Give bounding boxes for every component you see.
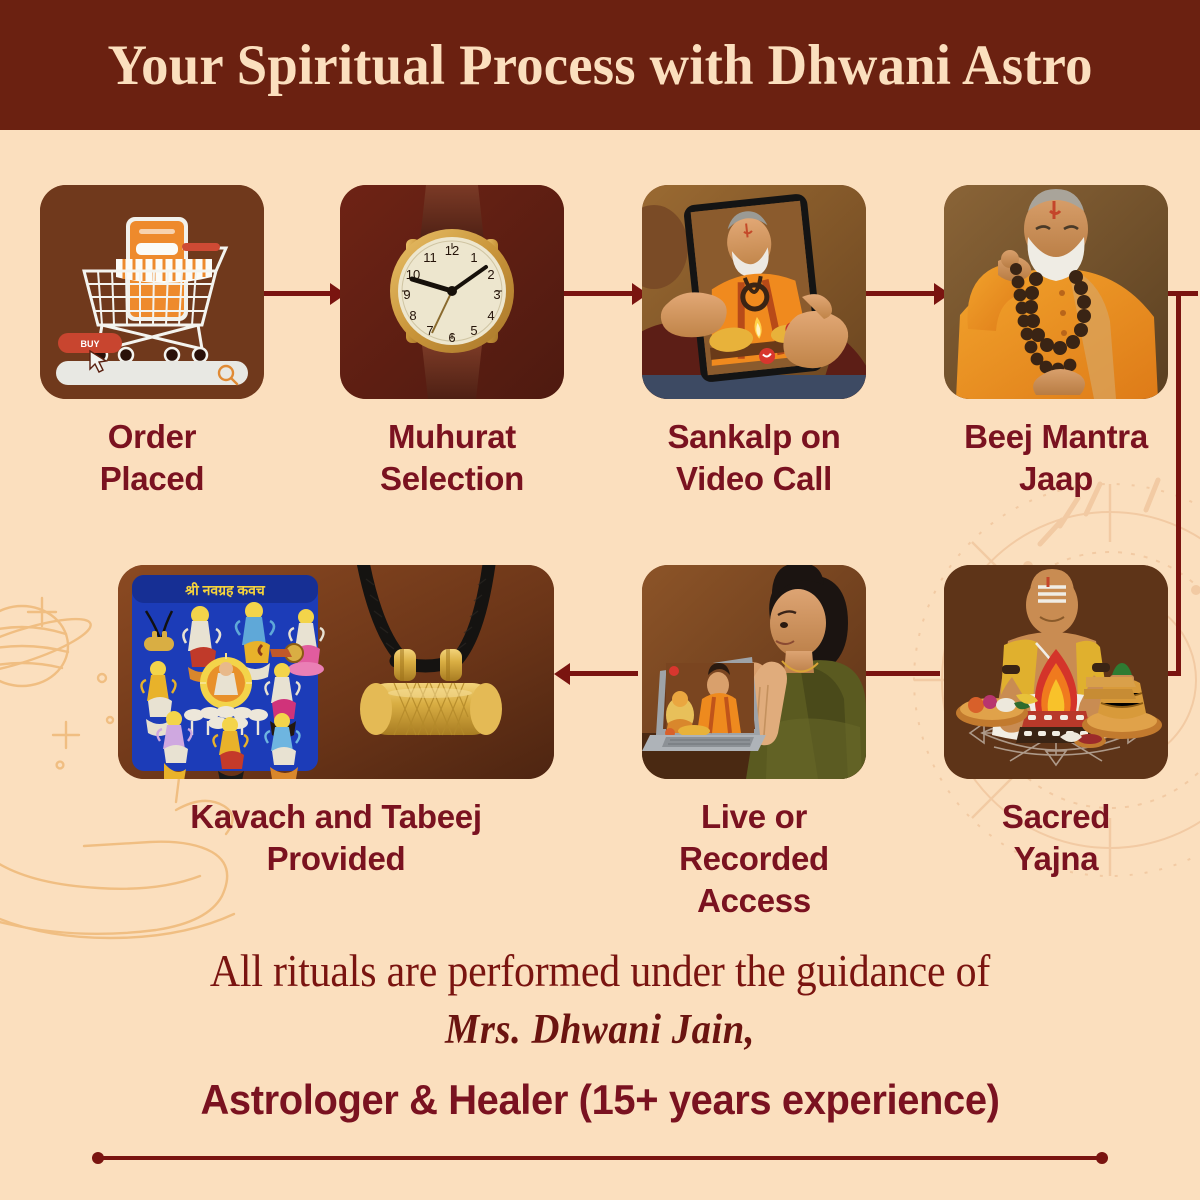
step-muhurat-selection[interactable]: 12 1 2 3 4 5 6 7 8 9 10 11: [340, 185, 564, 500]
divider-line: [97, 1156, 1103, 1160]
connector-beej-wrap-vertical: [1176, 291, 1181, 676]
page-header: Your Spiritual Process with Dhwani Astro: [0, 0, 1200, 130]
yajna-havan-illustration: [944, 565, 1168, 779]
wristwatch-photo: 12 1 2 3 4 5 6 7 8 9 10 11: [340, 185, 564, 399]
svg-text:11: 11: [423, 250, 437, 265]
step-beej-mantra-jaap[interactable]: Beej Mantra Jaap: [944, 185, 1168, 500]
connector-live-to-kavach: [566, 671, 638, 676]
svg-text:श्री नवग्रह कवच: श्री नवग्रह कवच: [184, 582, 266, 598]
page-title: Your Spiritual Process with Dhwani Astro: [107, 33, 1092, 98]
connector-sankalp-to-beej: [866, 291, 938, 296]
footer-line-astrologer-name: Mrs. Dhwani Jain,: [48, 1006, 1152, 1054]
step-order-placed[interactable]: BUY Order Placed: [40, 185, 264, 500]
step-label-live-or-recorded-access: Live or Recorded Access: [642, 796, 866, 923]
kavach-tabeej-photo: श्री नवग्रह कवच: [118, 565, 554, 779]
step-label-kavach-and-tabeej: Kavach and Tabeej Provided: [190, 796, 481, 880]
svg-text:4: 4: [487, 308, 494, 323]
svg-text:2: 2: [487, 267, 494, 282]
step-sacred-yajna[interactable]: Sacred Yajna: [944, 565, 1168, 880]
svg-text:BUY: BUY: [80, 339, 99, 349]
step-label-sacred-yajna: Sacred Yajna: [1002, 796, 1110, 880]
step-live-or-recorded-access[interactable]: Live or Recorded Access: [642, 565, 866, 923]
footer-line-guidance: All rituals are performed under the guid…: [42, 945, 1158, 997]
footer-divider: [0, 1148, 1200, 1168]
svg-text:1: 1: [470, 250, 477, 265]
svg-text:5: 5: [470, 323, 477, 338]
step-kavach-and-tabeej[interactable]: श्री नवग्रह कवच: [118, 565, 554, 880]
svg-text:3: 3: [493, 287, 500, 302]
connector-beej-wrap-top: [1165, 291, 1198, 296]
connector-muhurat-to-sankalp: [564, 291, 636, 296]
svg-text:9: 9: [403, 287, 410, 302]
step-label-muhurat-selection: Muhurat Selection: [380, 416, 524, 500]
shopping-cart-illustration: BUY: [40, 185, 264, 399]
tablet-video-call-photo: [642, 185, 866, 399]
arrow-live-to-kavach: [554, 663, 570, 685]
divider-dot-right: [1096, 1152, 1108, 1164]
step-label-sankalp-video-call: Sankalp on Video Call: [667, 416, 840, 500]
woman-laptop-prayer-photo: [642, 565, 866, 779]
step-label-order-placed: Order Placed: [100, 416, 205, 500]
svg-text:8: 8: [409, 308, 416, 323]
connector-yajna-to-live: [862, 671, 940, 676]
connector-order-to-muhurat: [262, 291, 334, 296]
footer-line-credentials: Astrologer & Healer (15+ years experienc…: [30, 1076, 1170, 1124]
priest-mala-beads-photo: [944, 185, 1168, 399]
step-sankalp-video-call[interactable]: Sankalp on Video Call: [642, 185, 866, 500]
footer-credits: All rituals are performed under the guid…: [0, 945, 1200, 1124]
step-label-beej-mantra-jaap: Beej Mantra Jaap: [964, 416, 1148, 500]
